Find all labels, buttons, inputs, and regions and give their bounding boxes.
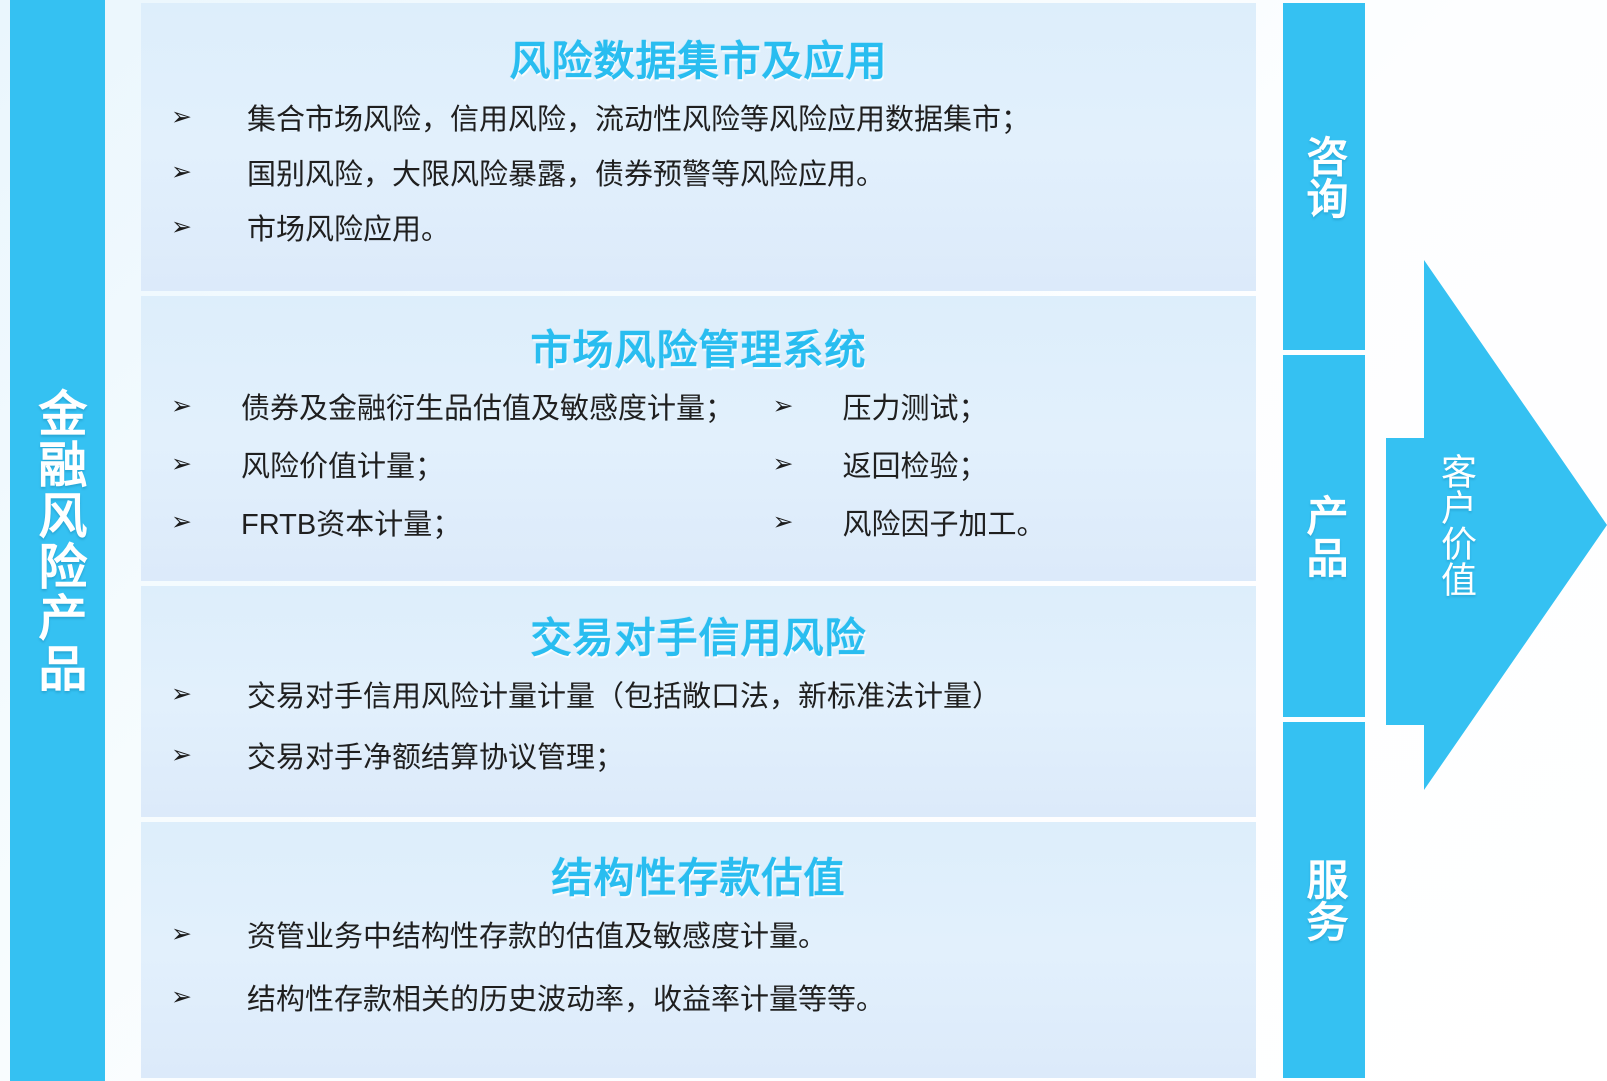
list-item: ➢ FRTB资本计量； bbox=[141, 508, 699, 543]
section-market-risk-system: 市场风险管理系统 ➢ 债券及金融衍生品估值及敏感度计量； ➢ 风险价值计量； ➢… bbox=[141, 296, 1256, 581]
arrow-bullet-icon: ➢ bbox=[161, 680, 247, 709]
arrow-bullet-icon: ➢ bbox=[763, 508, 843, 537]
arrow-bullet-icon: ➢ bbox=[161, 213, 247, 242]
bullet-column-right: ➢ 压力测试； ➢ 返回检验； ➢ 风险因子加工。 bbox=[699, 392, 1257, 565]
list-item-label: 交易对手净额结算协议管理； bbox=[247, 741, 1256, 776]
stage-column: 咨询 产品 服务 bbox=[1283, 3, 1365, 1078]
list-item: ➢ 市场风险应用。 bbox=[141, 213, 1256, 248]
list-item: ➢ 资管业务中结构性存款的估值及敏感度计量。 bbox=[141, 920, 1256, 955]
list-item: ➢ 债券及金融衍生品估值及敏感度计量； bbox=[141, 392, 699, 427]
arrow-bullet-icon: ➢ bbox=[161, 508, 241, 537]
bullet-list: ➢ 资管业务中结构性存款的估值及敏感度计量。 ➢ 结构性存款相关的历史波动率，收… bbox=[141, 920, 1256, 1018]
list-item: ➢ 结构性存款相关的历史波动率，收益率计量等等。 bbox=[141, 983, 1256, 1018]
section-title: 风险数据集市及应用 bbox=[141, 3, 1256, 87]
left-title-bar: 金融风险产品 bbox=[10, 0, 105, 1081]
list-item-label: 集合市场风险，信用风险，流动性风险等风险应用数据集市； bbox=[247, 103, 1256, 138]
list-item: ➢ 交易对手信用风险计量计量（包括敞口法，新标准法计量） bbox=[141, 680, 1256, 715]
section-title: 结构性存款估值 bbox=[141, 822, 1256, 904]
stage-cell-product: 产品 bbox=[1283, 355, 1365, 717]
section-title: 市场风险管理系统 bbox=[141, 296, 1256, 376]
list-item: ➢ 返回检验； bbox=[743, 450, 1257, 485]
list-item-label: 结构性存款相关的历史波动率，收益率计量等等。 bbox=[247, 983, 1256, 1018]
list-item: ➢ 国别风险，大限风险暴露，债券预警等风险应用。 bbox=[141, 158, 1256, 193]
left-title-label: 金融风险产品 bbox=[29, 388, 87, 694]
stage-cell-label: 咨询 bbox=[1300, 135, 1348, 219]
section-counterparty-credit-risk: 交易对手信用风险 ➢ 交易对手信用风险计量计量（包括敞口法，新标准法计量） ➢ … bbox=[141, 586, 1256, 817]
list-item-label: 风险因子加工。 bbox=[843, 508, 1257, 543]
customer-value-arrow: 客户价值 bbox=[1386, 260, 1607, 790]
stage-cell-consulting: 咨询 bbox=[1283, 3, 1365, 350]
list-item-label: 返回检验； bbox=[843, 450, 1257, 485]
bullet-list: ➢ 集合市场风险，信用风险，流动性风险等风险应用数据集市； ➢ 国别风险，大限风… bbox=[141, 103, 1256, 247]
arrow-bullet-icon: ➢ bbox=[161, 983, 247, 1012]
stage-cell-label: 服务 bbox=[1300, 858, 1348, 942]
arrow-bullet-icon: ➢ bbox=[763, 392, 843, 421]
section-title: 交易对手信用风险 bbox=[141, 586, 1256, 664]
list-item-label: 风险价值计量； bbox=[241, 450, 699, 485]
arrow-bullet-icon: ➢ bbox=[161, 103, 247, 132]
stage-cell-label: 产品 bbox=[1300, 494, 1348, 578]
arrow-bullet-icon: ➢ bbox=[161, 392, 241, 421]
list-item: ➢ 风险因子加工。 bbox=[743, 508, 1257, 543]
arrow-shape-icon bbox=[1386, 260, 1607, 790]
list-item-label: FRTB资本计量； bbox=[241, 508, 699, 543]
arrow-bullet-icon: ➢ bbox=[161, 920, 247, 949]
arrow-bullet-icon: ➢ bbox=[161, 158, 247, 187]
list-item-label: 国别风险，大限风险暴露，债券预警等风险应用。 bbox=[247, 158, 1256, 193]
section-risk-data-mart: 风险数据集市及应用 ➢ 集合市场风险，信用风险，流动性风险等风险应用数据集市； … bbox=[141, 3, 1256, 291]
arrow-bullet-icon: ➢ bbox=[161, 450, 241, 479]
list-item-label: 市场风险应用。 bbox=[247, 213, 1256, 248]
stage-cell-service: 服务 bbox=[1283, 722, 1365, 1078]
arrow-bullet-icon: ➢ bbox=[161, 741, 247, 770]
diagram-canvas: 金融风险产品 风险数据集市及应用 ➢ 集合市场风险，信用风险，流动性风险等风险应… bbox=[0, 0, 1607, 1081]
bullet-list: ➢ 交易对手信用风险计量计量（包括敞口法，新标准法计量） ➢ 交易对手净额结算协… bbox=[141, 680, 1256, 776]
section-structured-deposit-valuation: 结构性存款估值 ➢ 资管业务中结构性存款的估值及敏感度计量。 ➢ 结构性存款相关… bbox=[141, 822, 1256, 1078]
list-item: ➢ 集合市场风险，信用风险，流动性风险等风险应用数据集市； bbox=[141, 103, 1256, 138]
list-item: ➢ 交易对手净额结算协议管理； bbox=[141, 741, 1256, 776]
list-item: ➢ 压力测试； bbox=[743, 392, 1257, 427]
list-item: ➢ 风险价值计量； bbox=[141, 450, 699, 485]
list-item-label: 压力测试； bbox=[843, 392, 1257, 427]
arrow-bullet-icon: ➢ bbox=[763, 450, 843, 479]
list-item-label: 债券及金融衍生品估值及敏感度计量； bbox=[241, 392, 734, 427]
list-item-label: 资管业务中结构性存款的估值及敏感度计量。 bbox=[247, 920, 1256, 955]
bullet-list: ➢ 债券及金融衍生品估值及敏感度计量； ➢ 风险价值计量； ➢ FRTB资本计量… bbox=[141, 392, 1256, 565]
content-panel: 风险数据集市及应用 ➢ 集合市场风险，信用风险，流动性风险等风险应用数据集市； … bbox=[141, 0, 1256, 1081]
bullet-column-left: ➢ 债券及金融衍生品估值及敏感度计量； ➢ 风险价值计量； ➢ FRTB资本计量… bbox=[141, 392, 699, 565]
list-item-label: 交易对手信用风险计量计量（包括敞口法，新标准法计量） bbox=[247, 680, 1256, 715]
